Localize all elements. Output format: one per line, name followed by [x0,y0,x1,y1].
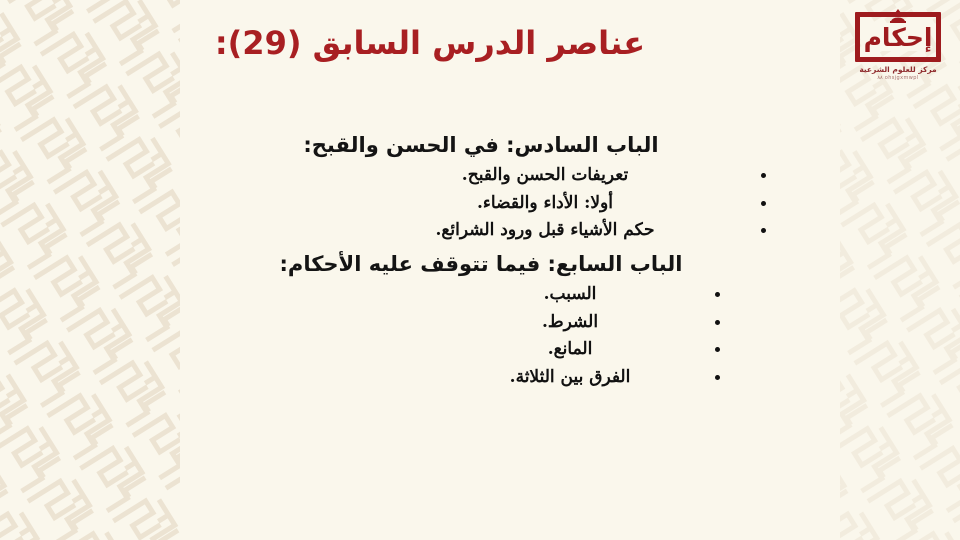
bullet-dot-icon [715,347,720,352]
brand-logo: إحكام مركز للعلوم الشرعية ohsjgxmwpl ٨٨ [850,12,946,90]
bullet-dot-icon [761,201,766,206]
slide-title: عناصر الدرس السابق (29): [0,24,860,62]
list-item: السبب. [110,281,870,309]
list-item-label: السبب. [544,284,597,304]
bullet-list-seven: السبب. الشرط. المانع. الفرق بين الثلاثة. [110,281,870,391]
bullet-dot-icon [715,320,720,325]
section-heading-seven: الباب السابع: فيما تتوقف عليه الأحكام: [110,251,870,277]
dome-icon [888,9,908,23]
logo-subtitle: مركز للعلوم الشرعية [850,65,946,74]
list-item: الفرق بين الثلاثة. [110,364,870,392]
list-item-label: المانع. [548,339,593,359]
bullet-dot-icon [761,228,766,233]
list-item: المانع. [110,336,870,364]
list-item: تعريفات الحسن والقبح. [110,162,870,190]
list-item-label: الفرق بين الثلاثة. [510,367,631,387]
list-item-label: الشرط. [542,312,598,332]
logo-subtitle-small: ohsjgxmwpl ٨٨ [850,75,946,81]
list-item: أولا: الأداء والقضاء. [110,190,870,218]
list-item: حكم الأشياء قبل ورود الشرائع. [110,217,870,245]
list-item-label: حكم الأشياء قبل ورود الشرائع. [435,220,654,240]
section-heading-six: الباب السادس: في الحسن والقبح: [110,132,870,158]
bullet-dot-icon [761,173,766,178]
list-item: الشرط. [110,309,870,337]
bullet-list-six: تعريفات الحسن والقبح. أولا: الأداء والقض… [110,162,870,245]
logo-mark: إحكام [855,12,941,62]
list-item-label: أولا: الأداء والقضاء. [477,193,613,213]
slide-content: الباب السادس: في الحسن والقبح: تعريفات ا… [110,132,870,391]
list-item-label: تعريفات الحسن والقبح. [462,165,628,185]
bullet-dot-icon [715,292,720,297]
bullet-dot-icon [715,375,720,380]
